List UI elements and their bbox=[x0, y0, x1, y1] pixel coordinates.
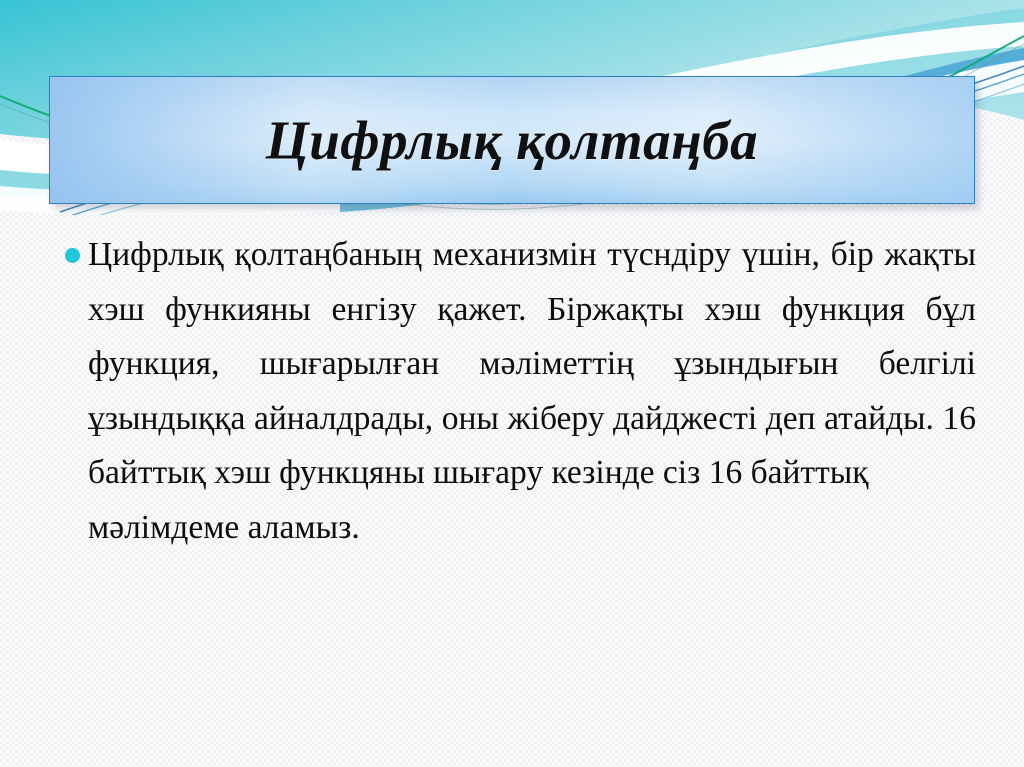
body-paragraph: Цифрлық қолтаңбаның механизмін түсндіру … bbox=[88, 228, 976, 555]
body-content: Цифрлық қолтаңбаның механизмін түсндіру … bbox=[56, 228, 976, 555]
body-paragraph-last-line: мәлімдеме аламыз. bbox=[88, 501, 976, 556]
title-box: Цифрлық қолтаңба bbox=[49, 76, 975, 204]
bullet-circle-icon bbox=[65, 248, 80, 263]
page-title: Цифрлық қолтаңба bbox=[266, 113, 758, 168]
body-paragraph-main: Цифрлық қолтаңбаның механизмін түсндіру … bbox=[88, 236, 976, 491]
bullet-list-item: Цифрлық қолтаңбаның механизмін түсндіру … bbox=[56, 228, 976, 555]
slide-canvas: Цифрлық қолтаңба Цифрлық қолтаңбаның мех… bbox=[0, 0, 1024, 767]
